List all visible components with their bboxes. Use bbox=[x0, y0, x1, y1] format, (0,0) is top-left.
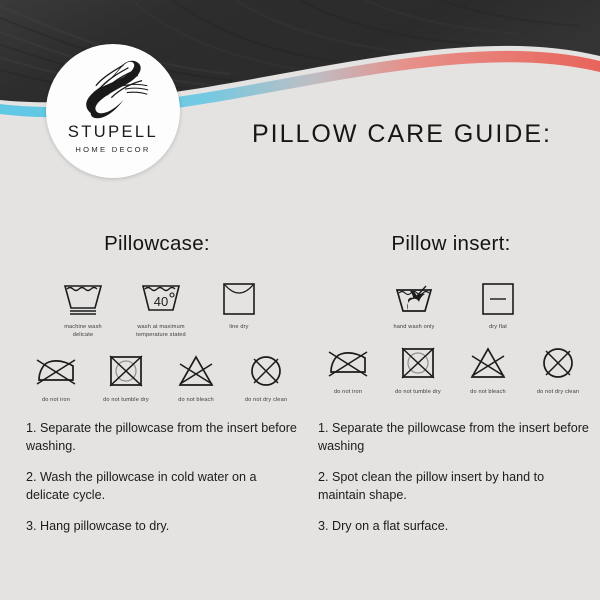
care-symbol-caption: dry flat bbox=[465, 323, 531, 331]
section-heading-pillow-insert: Pillow insert: bbox=[318, 232, 588, 256]
care-symbol-do-not-dry-clean: do not dry clean bbox=[527, 343, 589, 396]
care-symbol-do-not-bleach: do not bleach bbox=[165, 351, 227, 404]
instruction-item: 3. Dry on a flat surface. bbox=[318, 518, 592, 536]
do-not-bleach-icon bbox=[176, 351, 216, 391]
care-symbol-machine-wash-delicate: machine washdelicate bbox=[52, 278, 114, 339]
care-symbol-caption: wash at maximumtemperature stated bbox=[128, 323, 194, 339]
care-symbol-row-secondary-pillowcase: do not iron do not tumble dry bbox=[26, 351, 296, 404]
section-pillow-insert: Pillow insert: hand wash only dry flat bbox=[318, 232, 588, 396]
care-symbol-do-not-tumble-dry: do not tumble dry bbox=[95, 351, 157, 404]
care-symbol-do-not-dry-clean: do not dry clean bbox=[235, 351, 297, 404]
instruction-item: 2. Wash the pillowcase in cold water on … bbox=[26, 469, 300, 505]
do-not-bleach-icon bbox=[468, 343, 508, 383]
do-not-tumble-dry-icon bbox=[107, 351, 145, 391]
instruction-item: 2. Spot clean the pillow insert by hand … bbox=[318, 469, 592, 505]
care-symbol-row-secondary-insert: do not iron do not tumble dry bbox=[318, 343, 588, 396]
do-not-tumble-dry-icon bbox=[399, 343, 437, 383]
line-dry-icon bbox=[220, 278, 258, 318]
care-symbol-dry-flat: dry flat bbox=[467, 278, 529, 331]
machine-wash-delicate-icon bbox=[61, 278, 105, 318]
care-symbol-wash-max-temperature: 40 wash at maximumtemperature stated bbox=[130, 278, 192, 339]
section-pillowcase: Pillowcase: machine washdelicate 40 bbox=[26, 232, 296, 404]
dry-flat-icon bbox=[479, 278, 517, 318]
care-symbol-caption: do not iron bbox=[315, 388, 381, 396]
care-symbol-caption: do not dry clean bbox=[525, 388, 591, 396]
care-symbol-caption: do not tumble dry bbox=[385, 388, 451, 396]
care-symbol-hand-wash-only: hand wash only bbox=[383, 278, 445, 331]
do-not-iron-icon bbox=[327, 343, 369, 383]
hand-wash-only-icon bbox=[392, 278, 436, 318]
care-symbol-caption: do not dry clean bbox=[233, 396, 299, 404]
svg-text:40: 40 bbox=[154, 294, 168, 309]
instruction-list-pillowcase: 1. Separate the pillowcase from the inse… bbox=[26, 420, 300, 535]
care-symbol-caption: hand wash only bbox=[381, 323, 447, 331]
page-title: PILLOW CARE GUIDE: bbox=[252, 120, 552, 149]
care-symbol-row-primary-insert: hand wash only dry flat bbox=[318, 278, 588, 331]
do-not-iron-icon bbox=[35, 351, 77, 391]
care-symbol-do-not-bleach: do not bleach bbox=[457, 343, 519, 396]
care-symbol-caption: do not iron bbox=[23, 396, 89, 404]
wash-max-temperature-40-icon: 40 bbox=[139, 278, 183, 318]
do-not-dry-clean-icon bbox=[247, 351, 285, 391]
care-symbol-line-dry: line dry bbox=[208, 278, 270, 331]
section-heading-pillowcase: Pillowcase: bbox=[26, 232, 296, 256]
instruction-item: 1. Separate the pillowcase from the inse… bbox=[318, 420, 592, 456]
care-symbol-caption: line dry bbox=[206, 323, 272, 331]
care-symbol-caption: do not tumble dry bbox=[93, 396, 159, 404]
care-symbol-do-not-iron: do not iron bbox=[25, 351, 87, 404]
instruction-item: 3. Hang pillowcase to dry. bbox=[26, 518, 300, 536]
care-symbol-caption: machine washdelicate bbox=[50, 323, 116, 339]
care-symbol-do-not-tumble-dry: do not tumble dry bbox=[387, 343, 449, 396]
instruction-list-pillow-insert: 1. Separate the pillowcase from the inse… bbox=[318, 420, 592, 535]
brand-name: STUPELL bbox=[68, 123, 158, 142]
instruction-item: 1. Separate the pillowcase from the inse… bbox=[26, 420, 300, 456]
do-not-dry-clean-icon bbox=[539, 343, 577, 383]
care-symbol-row-primary-pillowcase: machine washdelicate 40 wash at maximumt… bbox=[26, 278, 296, 339]
care-symbol-caption: do not bleach bbox=[455, 388, 521, 396]
care-symbol-caption: do not bleach bbox=[163, 396, 229, 404]
brand-tagline: HOME DECOR bbox=[75, 145, 150, 154]
stupell-s-swoosh-icon bbox=[70, 60, 156, 120]
brand-logo-badge: STUPELL HOME DECOR bbox=[46, 44, 180, 178]
care-symbol-do-not-iron: do not iron bbox=[317, 343, 379, 396]
